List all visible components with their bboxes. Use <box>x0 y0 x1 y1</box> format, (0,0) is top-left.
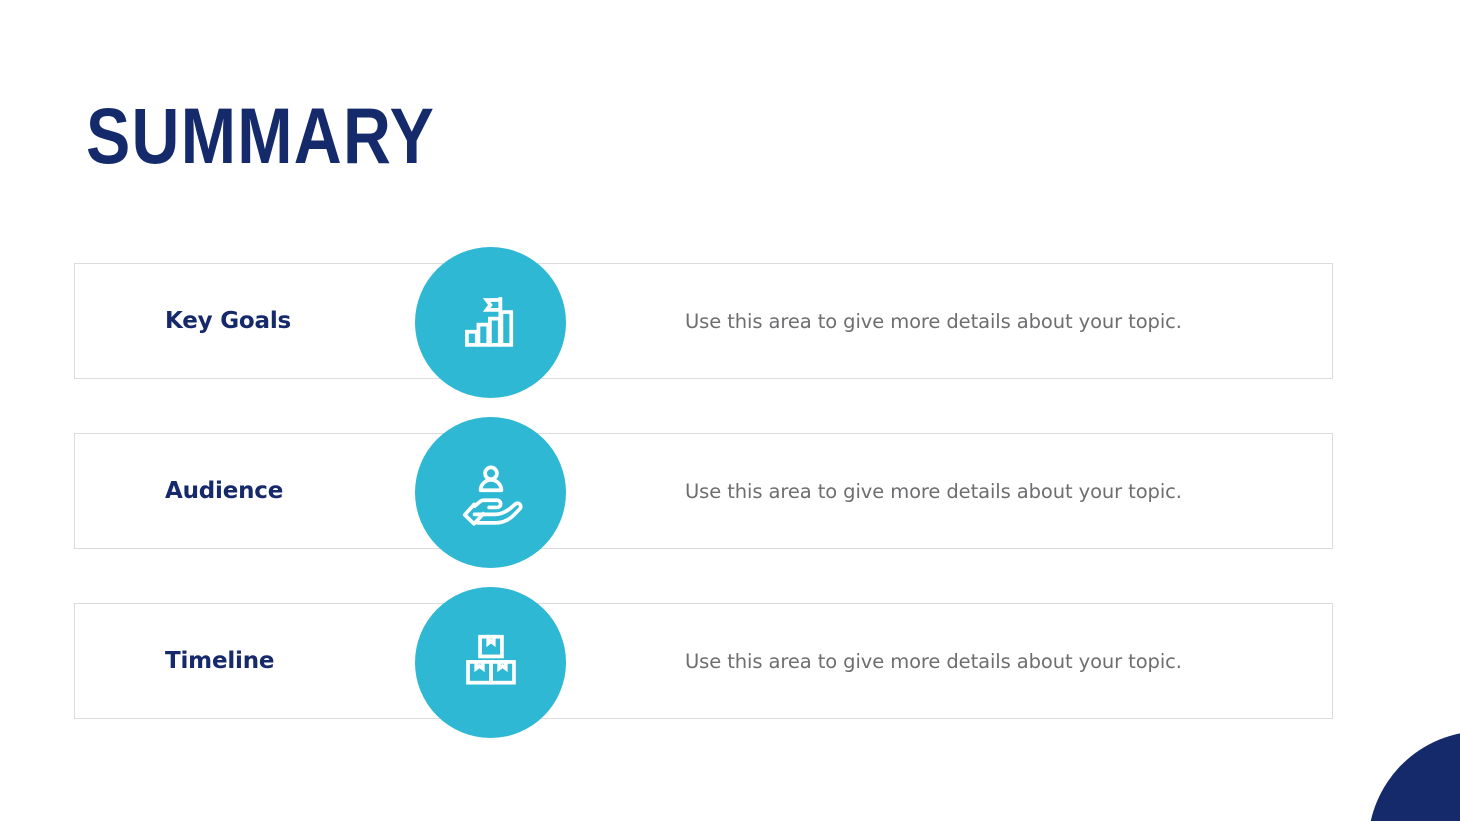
stacked-boxes-icon <box>456 628 526 698</box>
icon-badge-timeline <box>415 587 566 738</box>
bar-chart-flag-icon <box>456 288 526 358</box>
page-title: SUMMARY <box>86 93 435 179</box>
row-label-timeline: Timeline <box>165 648 274 674</box>
row-label-audience: Audience <box>165 478 283 504</box>
summary-row[interactable]: Key Goals Use this area <box>74 263 1333 379</box>
summary-row[interactable]: Timeline Use this area <box>74 603 1333 719</box>
icon-badge-key-goals <box>415 247 566 398</box>
summary-row[interactable]: Audience U <box>74 433 1333 549</box>
corner-decoration-circle <box>1368 731 1460 821</box>
row-description: Use this area to give more details about… <box>685 480 1182 503</box>
row-label-key-goals: Key Goals <box>165 308 291 334</box>
row-description: Use this area to give more details about… <box>685 650 1182 673</box>
row-description: Use this area to give more details about… <box>685 310 1182 333</box>
summary-slide: SUMMARY Key Goals <box>0 0 1460 821</box>
hand-holding-person-icon <box>456 458 526 528</box>
summary-rows: Key Goals Use this area <box>74 263 1333 719</box>
icon-badge-audience <box>415 417 566 568</box>
